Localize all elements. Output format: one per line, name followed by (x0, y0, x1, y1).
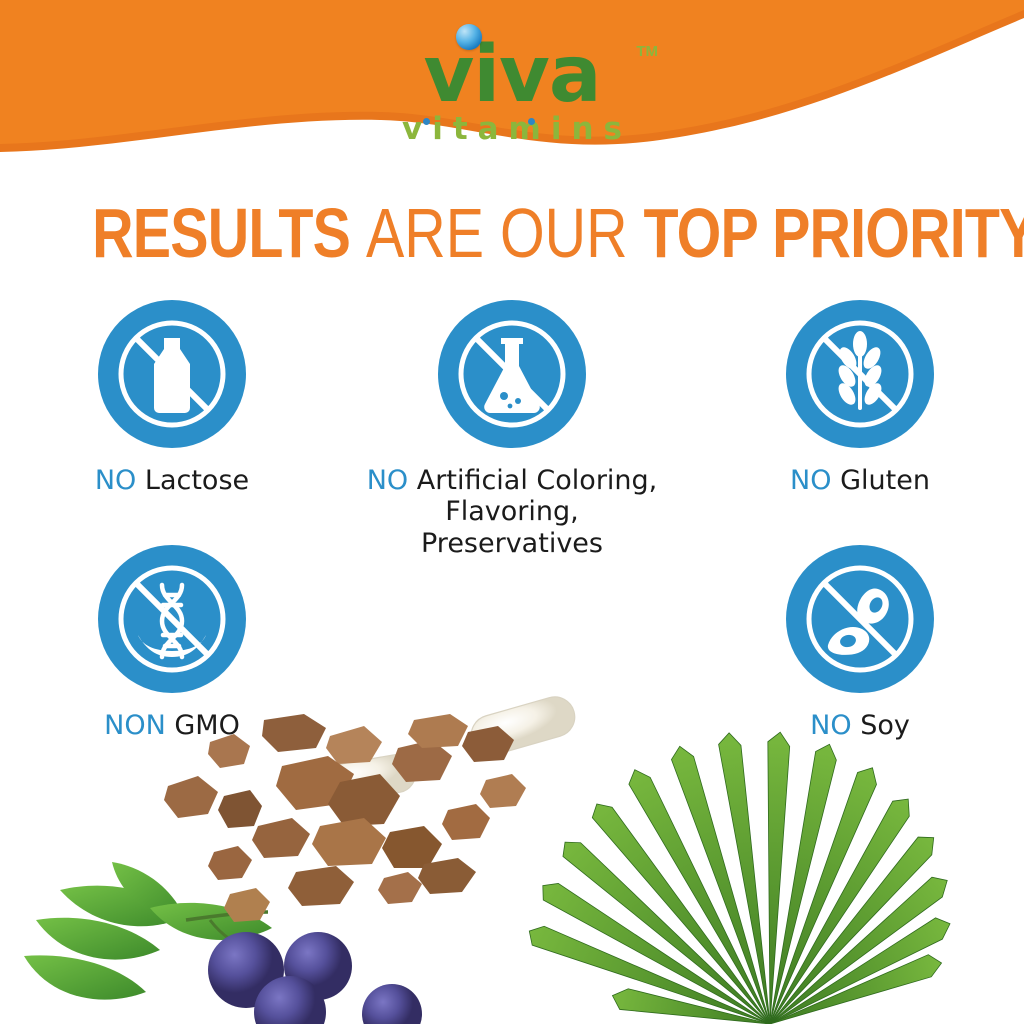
badge-text: Soy (860, 710, 910, 741)
logo-wordmark: viva TM vitamins (392, 38, 632, 145)
badge-prefix: NO (810, 710, 851, 741)
headline-part-2: ARE OUR (366, 194, 628, 272)
saw-palmetto-frond (525, 731, 955, 1024)
dried-bark-pieces (164, 714, 526, 922)
badge-prefix: NON (104, 710, 166, 741)
badge-no-gluten: NO Gluten (710, 300, 1010, 496)
badge-text: GMO (174, 710, 239, 741)
badge-label: NO Artificial Coloring, Flavoring, Prese… (362, 465, 662, 559)
no-soy-bean-icon (786, 545, 934, 693)
no-gmo-dna-hand-icon (98, 545, 246, 693)
badge-label: NO Gluten (710, 465, 1010, 496)
badge-label: NO Soy (710, 710, 1010, 741)
no-milk-bottle-icon (98, 300, 246, 448)
headline-part-3: TOP PRIORITY (643, 194, 1024, 272)
badge-prefix: NO (95, 465, 136, 496)
logo-trademark: TM (636, 44, 658, 59)
logo-sphere-dot-icon (456, 24, 482, 50)
headline-part-1: RESULTS (92, 194, 350, 272)
badge-no-artificial: NO Artificial Coloring, Flavoring, Prese… (362, 300, 662, 559)
logo-sub-dot-icon (423, 118, 430, 125)
no-wheat-icon (786, 300, 934, 448)
badge-label: NO Lactose (22, 465, 322, 496)
no-flask-icon (438, 300, 586, 448)
logo-sub-dot-icon (528, 118, 535, 125)
promotional-poster: viva TM vitamins RESULTS ARE OUR TOP PRI… (0, 0, 1024, 1024)
badge-no-soy: NO Soy (710, 545, 1010, 741)
purple-berries (208, 932, 422, 1024)
badge-text: Lactose (145, 465, 249, 496)
badge-prefix: NO (790, 465, 831, 496)
page-title: RESULTS ARE OUR TOP PRIORITY (92, 198, 932, 268)
badge-text: Gluten (840, 465, 930, 496)
badge-label: NON GMO (22, 710, 322, 741)
brand-logo: viva TM vitamins (0, 38, 1024, 145)
badge-no-lactose: NO Lactose (22, 300, 322, 496)
badge-non-gmo: NON GMO (22, 545, 322, 741)
badge-prefix: NO (367, 465, 408, 496)
logo-sub-text: vitamins (392, 114, 632, 145)
badge-text: Artificial Coloring, Flavoring, Preserva… (417, 465, 657, 559)
logo-main-text: viva (423, 38, 600, 112)
